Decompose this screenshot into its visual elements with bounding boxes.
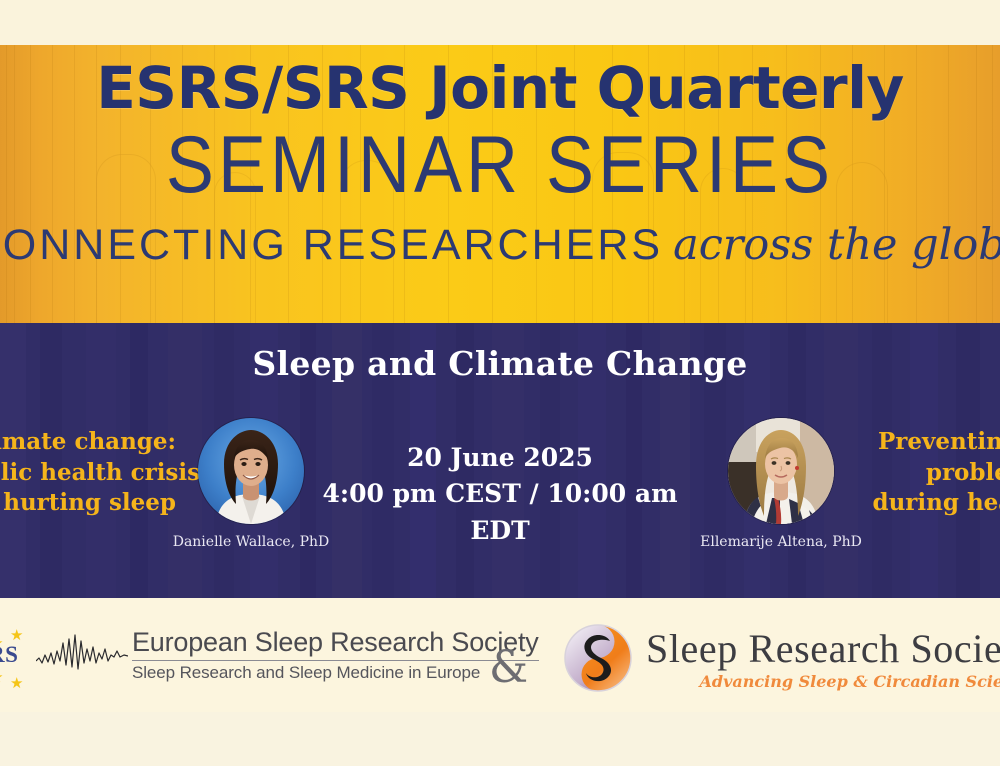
esrs-tagline: Sleep Research and Sleep Medicine in Eur… [132,663,539,683]
bottom-margin-strip [0,712,1000,766]
speaker-right: Ellemarije Altena, PhD [728,418,834,524]
esrs-stars-icon: ★ ★ ★ ★ ★ RS [0,624,36,686]
srs-name: Sleep Research Society [646,628,1000,670]
speaker-photo-left [198,418,304,524]
poster-tagline: CONNECTING RESEARCHERSacross the globe [0,224,1000,267]
talk-title-right: Preventing sleep problems during heatwav… [856,427,1000,519]
talk-left-line1: Climate change: [0,427,176,458]
srs-logo-group: Sleep Research Society Advancing Sleep &… [562,622,1000,694]
seminar-topic-title: Sleep and Climate Change [0,344,1000,383]
srs-tagline: Advancing Sleep & Circadian Science [646,672,1000,691]
esrs-name: European Sleep Research Society [132,627,539,658]
event-date: 20 June 2025 [310,440,690,476]
srs-wordmark: Sleep Research Society Advancing Sleep &… [646,628,1000,691]
tagline-italic: across the globe [673,220,1000,270]
srs-yin-yang-s-icon [562,622,634,694]
esrs-divider [132,660,539,661]
talk-right-line3: during heatwaves [856,488,1000,519]
seminar-announcement-poster: ESRS/SRS Joint Quarterly SEMINAR SERIES … [0,0,1000,766]
poster-title-line2: SEMINAR SERIES [166,119,834,212]
esrs-abbrev: RS [0,642,18,668]
footer-logos-bar: ★ ★ ★ ★ ★ RS European Sleep Research Soc… [0,598,1000,712]
talk-title-left: Climate change: A public health crisis h… [0,427,176,519]
event-datetime: 20 June 2025 4:00 pm CEST / 10:00 am EDT [310,440,690,549]
speaker-right-name: Ellemarije Altena, PhD [700,534,862,550]
speaker-left: Danielle Wallace, PhD [198,418,304,524]
talk-left-line2: A public health crisis [0,458,176,489]
talk-left-line3: hurting sleep [0,488,176,519]
esrs-wordmark: European Sleep Research Society Sleep Re… [132,627,539,683]
poster-title-line1: ESRS/SRS Joint Quarterly [96,57,904,121]
esrs-logo-group: ★ ★ ★ ★ ★ RS European Sleep Research Soc… [0,624,539,686]
talk-right-line1: Preventing sleep [856,427,1000,458]
yellow-header-banner: ESRS/SRS Joint Quarterly SEMINAR SERIES … [0,45,1000,323]
tagline-caps: CONNECTING RESEARCHERS [0,221,663,269]
speaker-photo-right [728,418,834,524]
top-margin-strip [0,0,1000,45]
eeg-wave-icon [36,631,128,679]
event-time: 4:00 pm CEST / 10:00 am EDT [310,476,690,549]
speaker-left-name: Danielle Wallace, PhD [173,534,330,550]
talk-right-line2: problems [856,458,1000,489]
logo-conjunction: & [489,642,528,693]
